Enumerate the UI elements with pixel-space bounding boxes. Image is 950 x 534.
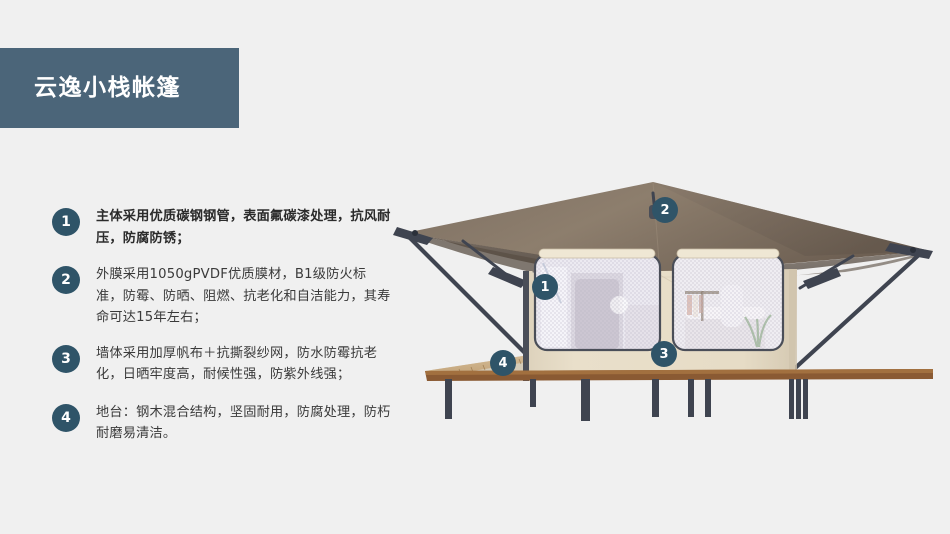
feature-text-2: 外膜采用1050gPVDF优质膜材，B1级防火标准，防霉、防晒、阻燃、抗老化和自…	[96, 264, 392, 329]
page-title: 云逸小栈帐篷	[34, 77, 181, 100]
list-item: 4 地台：钢木混合结构，坚固耐用，防腐处理，防朽耐磨易清洁。	[52, 402, 392, 445]
bullet-number-4: 4	[52, 404, 80, 432]
feature-text-1: 主体采用优质碳钢钢管，表面氟碳漆处理，抗风耐压，防腐防锈；	[96, 206, 392, 249]
callout-marker-4: 4	[490, 350, 516, 376]
bullet-number-2: 2	[52, 266, 80, 294]
list-item: 2 外膜采用1050gPVDF优质膜材，B1级防火标准，防霉、防晒、阻燃、抗老化…	[52, 264, 392, 329]
bullet-number-1: 1	[52, 208, 80, 236]
callout-marker-1: 1	[532, 274, 558, 300]
list-item: 1 主体采用优质碳钢钢管，表面氟碳漆处理，抗风耐压，防腐防锈；	[52, 206, 392, 249]
feature-list: 1 主体采用优质碳钢钢管，表面氟碳漆处理，抗风耐压，防腐防锈； 2 外膜采用10…	[52, 206, 392, 445]
callout-marker-3: 3	[651, 341, 677, 367]
callout-marker-2: 2	[652, 197, 678, 223]
bullet-number-3: 3	[52, 345, 80, 373]
slide-root: 云逸小栈帐篷 1 主体采用优质碳钢钢管，表面氟碳漆处理，抗风耐压，防腐防锈； 2…	[0, 0, 950, 534]
feature-text-3: 墙体采用加厚帆布＋抗撕裂纱网，防水防霉抗老化，日晒牢度高，耐候性强，防紫外线强；	[96, 343, 392, 386]
feature-text-4: 地台：钢木混合结构，坚固耐用，防腐处理，防朽耐磨易清洁。	[96, 402, 392, 445]
list-item: 3 墙体采用加厚帆布＋抗撕裂纱网，防水防霉抗老化，日晒牢度高，耐候性强，防紫外线…	[52, 343, 392, 386]
title-banner: 云逸小栈帐篷	[0, 48, 239, 128]
